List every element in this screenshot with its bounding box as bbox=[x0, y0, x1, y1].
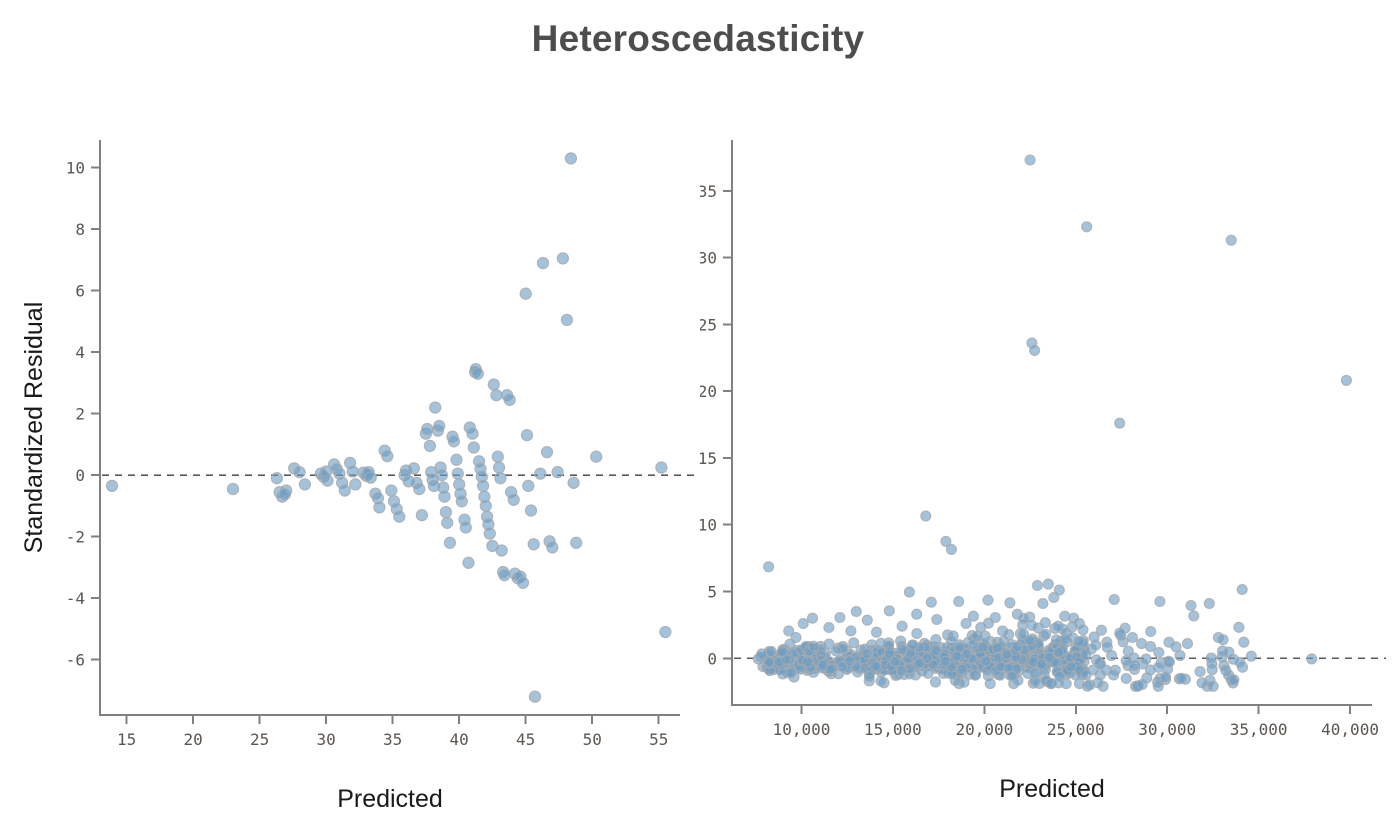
data-point bbox=[488, 379, 499, 390]
data-point bbox=[1195, 667, 1205, 677]
data-point bbox=[1226, 235, 1236, 245]
data-point bbox=[525, 505, 536, 516]
data-point bbox=[884, 606, 894, 616]
data-point bbox=[1155, 597, 1165, 607]
data-point bbox=[571, 537, 582, 548]
data-point bbox=[890, 657, 900, 667]
y-tick-label: -6 bbox=[66, 651, 85, 670]
data-point bbox=[106, 480, 117, 491]
data-point bbox=[1141, 654, 1151, 664]
data-points bbox=[106, 153, 671, 702]
data-point bbox=[591, 451, 602, 462]
data-point bbox=[528, 539, 539, 550]
y-axis-title: Standardized Residual bbox=[20, 302, 48, 554]
data-point bbox=[1102, 642, 1112, 652]
data-point bbox=[1091, 640, 1101, 650]
data-point bbox=[416, 509, 427, 520]
data-point bbox=[825, 664, 835, 674]
data-point bbox=[1123, 646, 1133, 656]
data-point bbox=[897, 666, 907, 676]
data-point bbox=[992, 643, 1002, 653]
x-tick-label: 30,000 bbox=[1138, 720, 1196, 739]
data-point bbox=[1121, 656, 1131, 666]
data-point bbox=[1128, 633, 1138, 643]
data-point bbox=[478, 480, 489, 491]
data-point bbox=[764, 562, 774, 572]
data-point bbox=[537, 257, 548, 268]
data-point bbox=[382, 451, 393, 462]
data-point bbox=[1161, 672, 1171, 682]
data-point bbox=[897, 645, 907, 655]
data-point bbox=[984, 618, 994, 628]
data-point bbox=[809, 641, 819, 651]
data-point bbox=[824, 623, 834, 633]
data-point bbox=[436, 470, 447, 481]
data-point bbox=[862, 615, 872, 625]
data-point bbox=[908, 640, 918, 650]
x-tick-label: 15 bbox=[117, 730, 136, 749]
data-point bbox=[491, 390, 502, 401]
data-point bbox=[876, 676, 886, 686]
data-point bbox=[448, 436, 459, 447]
data-point bbox=[299, 479, 310, 490]
data-point bbox=[1121, 674, 1131, 684]
data-point bbox=[660, 626, 671, 637]
data-point bbox=[504, 394, 515, 405]
data-point bbox=[1004, 630, 1014, 640]
x-tick-label: 20,000 bbox=[955, 720, 1013, 739]
data-point bbox=[467, 428, 478, 439]
data-point bbox=[1061, 634, 1071, 644]
data-point bbox=[1055, 671, 1065, 681]
data-point bbox=[931, 677, 941, 687]
data-point bbox=[463, 557, 474, 568]
x-axis-title: Predicted bbox=[999, 775, 1105, 803]
data-point bbox=[1171, 642, 1181, 652]
y-tick-label: 25 bbox=[700, 315, 717, 334]
data-point bbox=[439, 491, 450, 502]
scatter-plot-left: -6-4-20246810152025303540455055Predicted… bbox=[0, 0, 700, 826]
data-point bbox=[1078, 625, 1088, 635]
data-point bbox=[1012, 642, 1022, 652]
data-point bbox=[468, 442, 479, 453]
data-point bbox=[565, 153, 576, 164]
data-point bbox=[946, 544, 956, 554]
data-point bbox=[978, 642, 988, 652]
data-point bbox=[798, 619, 808, 629]
y-tick-label: 0 bbox=[707, 649, 717, 668]
data-point bbox=[1145, 665, 1155, 675]
data-point bbox=[452, 468, 463, 479]
data-point bbox=[802, 657, 812, 667]
x-axis-title: Predicted bbox=[337, 785, 443, 813]
data-point bbox=[926, 597, 936, 607]
data-point bbox=[985, 679, 995, 689]
data-point bbox=[442, 517, 453, 528]
data-point bbox=[424, 440, 435, 451]
data-point bbox=[1019, 629, 1029, 639]
data-point bbox=[495, 473, 506, 484]
data-point bbox=[480, 500, 491, 511]
axis-spines bbox=[100, 140, 680, 715]
data-point bbox=[1019, 613, 1029, 623]
data-point bbox=[835, 613, 845, 623]
data-point bbox=[871, 661, 881, 671]
x-tick-label: 30 bbox=[317, 730, 336, 749]
data-point bbox=[1109, 595, 1119, 605]
axis-spines bbox=[732, 140, 1372, 705]
data-point bbox=[492, 451, 503, 462]
data-point bbox=[757, 649, 767, 659]
x-tick-label: 50 bbox=[583, 730, 602, 749]
data-point bbox=[1007, 671, 1017, 681]
data-point bbox=[831, 646, 841, 656]
data-point bbox=[496, 545, 507, 556]
data-point bbox=[1186, 601, 1196, 611]
data-point bbox=[541, 447, 552, 458]
data-point bbox=[456, 496, 467, 507]
data-point bbox=[1082, 222, 1092, 232]
y-tick-label: 30 bbox=[700, 249, 717, 268]
x-tick-label: 35 bbox=[383, 730, 402, 749]
data-point bbox=[922, 653, 932, 663]
data-point bbox=[440, 506, 451, 517]
x-tick-label: 45 bbox=[516, 730, 535, 749]
data-point bbox=[981, 656, 991, 666]
data-point bbox=[932, 615, 942, 625]
x-tick-label: 25 bbox=[250, 730, 269, 749]
data-point bbox=[494, 462, 505, 473]
data-point bbox=[294, 467, 305, 478]
data-point bbox=[1235, 657, 1245, 667]
data-point bbox=[1183, 639, 1193, 649]
data-point bbox=[484, 528, 495, 539]
data-point bbox=[845, 656, 855, 666]
data-point bbox=[1053, 621, 1063, 631]
data-point bbox=[517, 577, 528, 588]
data-point bbox=[968, 611, 978, 621]
data-point bbox=[1081, 650, 1091, 660]
data-point bbox=[523, 480, 534, 491]
data-point bbox=[864, 672, 874, 682]
data-point bbox=[568, 477, 579, 488]
data-point bbox=[862, 649, 872, 659]
data-point bbox=[1074, 637, 1084, 647]
data-point bbox=[778, 647, 788, 657]
data-point bbox=[1341, 375, 1351, 385]
data-point bbox=[1002, 649, 1012, 659]
y-tick-label: 2 bbox=[75, 405, 85, 424]
data-point bbox=[1218, 635, 1228, 645]
data-point bbox=[1137, 679, 1147, 689]
data-point bbox=[1146, 627, 1156, 637]
figure-root: Heteroscedasticity -6-4-2024681015202530… bbox=[0, 0, 1396, 826]
data-point bbox=[529, 691, 540, 702]
data-point bbox=[444, 537, 455, 548]
y-tick-label: 15 bbox=[700, 449, 717, 468]
data-point bbox=[271, 473, 282, 484]
data-point bbox=[499, 570, 510, 581]
x-tick-label: 15,000 bbox=[864, 720, 922, 739]
data-point bbox=[1081, 670, 1091, 680]
chart-panel-left: -6-4-20246810152025303540455055Predicted… bbox=[0, 0, 700, 826]
data-point bbox=[350, 479, 361, 490]
data-point bbox=[1204, 599, 1214, 609]
data-points bbox=[753, 155, 1351, 691]
data-point bbox=[1197, 678, 1207, 688]
data-point bbox=[808, 613, 818, 623]
data-point bbox=[1176, 673, 1186, 683]
data-point bbox=[1069, 613, 1079, 623]
data-point bbox=[912, 629, 922, 639]
data-point bbox=[1164, 657, 1174, 667]
data-point bbox=[521, 430, 532, 441]
data-point bbox=[1085, 680, 1095, 690]
y-tick-label: 0 bbox=[75, 466, 85, 485]
data-point bbox=[365, 472, 376, 483]
y-tick-label: -2 bbox=[66, 528, 85, 547]
data-point bbox=[1030, 345, 1040, 355]
data-point bbox=[1025, 155, 1035, 165]
data-point bbox=[1054, 585, 1064, 595]
y-tick-label: 4 bbox=[75, 343, 85, 362]
y-tick-label: -4 bbox=[66, 589, 85, 608]
data-point bbox=[1206, 653, 1216, 663]
data-point bbox=[912, 609, 922, 619]
data-point bbox=[430, 402, 441, 413]
data-point bbox=[451, 454, 462, 465]
data-point bbox=[1246, 651, 1256, 661]
y-tick-label: 10 bbox=[66, 159, 85, 178]
data-point bbox=[1224, 647, 1234, 657]
data-point bbox=[970, 670, 980, 680]
x-tick-label: 35,000 bbox=[1230, 720, 1288, 739]
data-point bbox=[1040, 618, 1050, 628]
data-point bbox=[1054, 647, 1064, 657]
data-point bbox=[786, 668, 796, 678]
data-point bbox=[1096, 625, 1106, 635]
data-point bbox=[508, 494, 519, 505]
scatter-plot-right: 0510152025303510,00015,00020,00025,00030… bbox=[700, 0, 1396, 826]
data-point bbox=[1045, 652, 1055, 662]
data-point bbox=[422, 423, 433, 434]
data-point bbox=[520, 288, 531, 299]
data-point bbox=[1032, 581, 1042, 591]
data-point bbox=[957, 664, 967, 674]
x-tick-label: 40,000 bbox=[1321, 720, 1379, 739]
x-tick-label: 55 bbox=[649, 730, 668, 749]
data-point bbox=[552, 467, 563, 478]
data-point bbox=[547, 542, 558, 553]
data-point bbox=[1115, 418, 1125, 428]
data-point bbox=[897, 621, 907, 631]
data-point bbox=[846, 626, 856, 636]
data-point bbox=[1041, 629, 1051, 639]
data-point bbox=[940, 656, 950, 666]
data-point bbox=[1115, 628, 1125, 638]
data-point bbox=[851, 607, 861, 617]
x-tick-label: 25,000 bbox=[1047, 720, 1105, 739]
data-point bbox=[1234, 622, 1244, 632]
x-tick-label: 10,000 bbox=[773, 720, 831, 739]
y-tick-label: 10 bbox=[700, 516, 717, 535]
data-point bbox=[535, 468, 546, 479]
data-point bbox=[1307, 654, 1317, 664]
data-point bbox=[374, 502, 385, 513]
y-tick-label: 8 bbox=[75, 220, 85, 239]
data-point bbox=[227, 483, 238, 494]
data-point bbox=[1038, 599, 1048, 609]
data-point bbox=[656, 462, 667, 473]
data-point bbox=[983, 595, 993, 605]
y-tick-label: 35 bbox=[700, 182, 717, 201]
data-point bbox=[1189, 611, 1199, 621]
data-point bbox=[394, 511, 405, 522]
data-point bbox=[434, 420, 445, 431]
data-point bbox=[322, 475, 333, 486]
data-point bbox=[1005, 598, 1015, 608]
y-tick-label: 5 bbox=[707, 582, 717, 601]
data-point bbox=[386, 485, 397, 496]
y-tick-label: 6 bbox=[75, 282, 85, 301]
data-point bbox=[1208, 681, 1218, 691]
data-point bbox=[279, 489, 290, 500]
data-point bbox=[408, 463, 419, 474]
data-point bbox=[904, 587, 914, 597]
data-point bbox=[557, 253, 568, 264]
data-point bbox=[414, 483, 425, 494]
data-point bbox=[1109, 670, 1119, 680]
data-point bbox=[460, 522, 471, 533]
data-point bbox=[1030, 668, 1040, 678]
data-point bbox=[921, 511, 931, 521]
chart-panel-right: 0510152025303510,00015,00020,00025,00030… bbox=[700, 0, 1396, 826]
data-point bbox=[1091, 655, 1101, 665]
y-tick-label: 20 bbox=[700, 382, 717, 401]
data-point bbox=[1237, 585, 1247, 595]
data-point bbox=[1043, 579, 1053, 589]
data-point bbox=[561, 314, 572, 325]
data-point bbox=[1146, 641, 1156, 651]
data-point bbox=[347, 466, 358, 477]
data-point bbox=[952, 651, 962, 661]
data-point bbox=[1239, 637, 1249, 647]
data-point bbox=[872, 627, 882, 637]
data-point bbox=[339, 485, 350, 496]
data-point bbox=[923, 668, 933, 678]
data-point bbox=[1037, 659, 1047, 669]
data-point bbox=[766, 646, 776, 656]
data-point bbox=[472, 368, 483, 379]
data-point bbox=[968, 640, 978, 650]
data-point bbox=[931, 635, 941, 645]
data-point bbox=[1229, 675, 1239, 685]
x-tick-label: 20 bbox=[183, 730, 202, 749]
x-tick-label: 40 bbox=[450, 730, 469, 749]
data-point bbox=[954, 597, 964, 607]
